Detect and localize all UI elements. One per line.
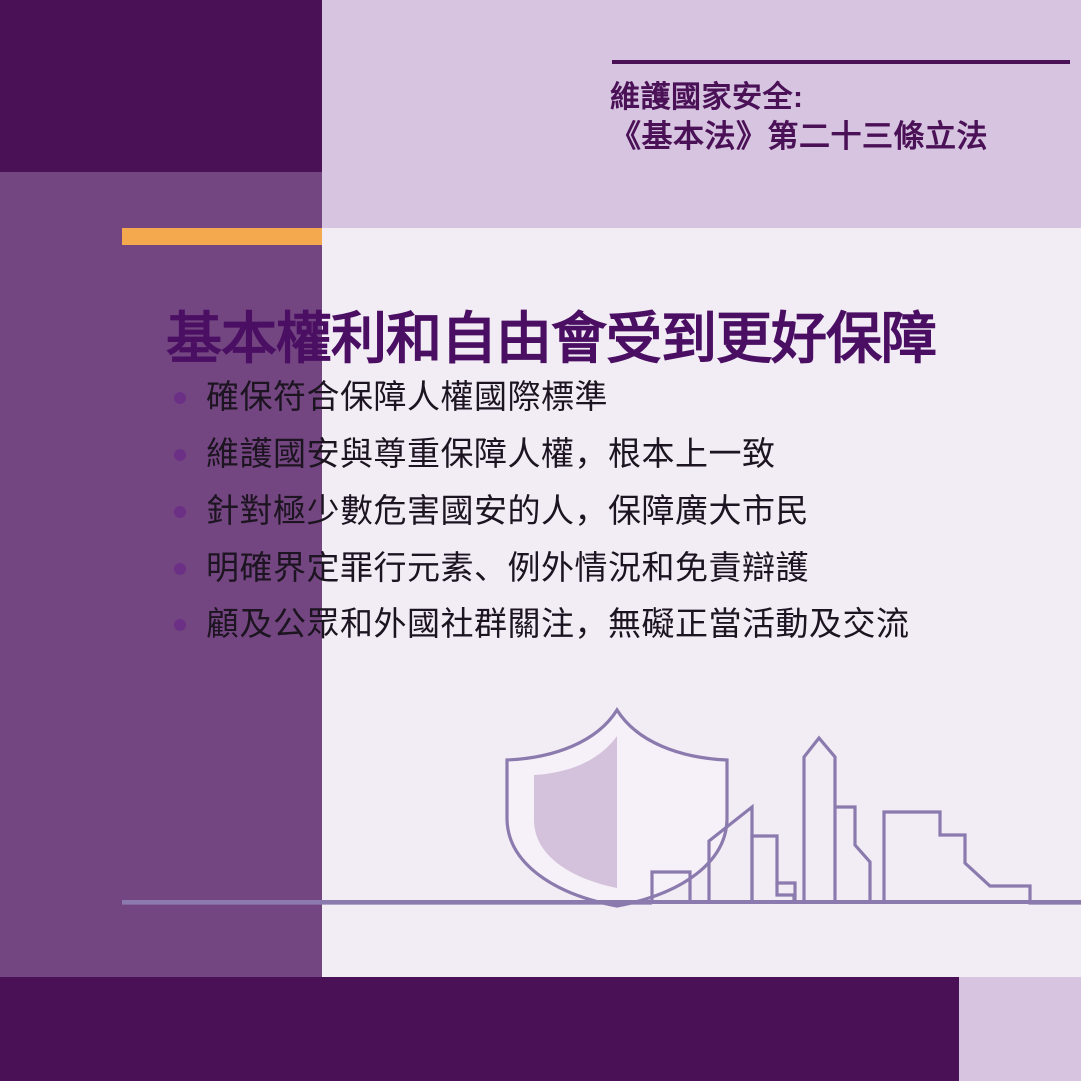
list-item: 針對極少數危害國安的人，保障廣大市民 bbox=[166, 488, 1066, 535]
header-divider-rule bbox=[612, 60, 1070, 64]
list-item-label: 明確界定罪行元素、例外情況和免責辯護 bbox=[206, 549, 809, 586]
list-item-label: 維護國安與尊重保障人權，根本上一致 bbox=[206, 435, 776, 472]
bullet-dot-icon bbox=[174, 449, 186, 461]
top-left-dark-block bbox=[0, 0, 322, 172]
list-item: 確保符合保障人權國際標準 bbox=[166, 374, 1066, 421]
left-purple-sidebar bbox=[0, 228, 122, 977]
bullet-dot-icon bbox=[174, 563, 186, 575]
bottom-dark-block bbox=[0, 977, 959, 1081]
header-title-line-1: 維護國家安全: bbox=[610, 78, 1080, 117]
list-item: 顧及公眾和外國社群關注，無礙正當活動及交流 bbox=[166, 601, 1066, 648]
header-title-line-2: 《基本法》第二十三條立法 bbox=[610, 117, 1080, 157]
key-points-list: 確保符合保障人權國際標準 維護國安與尊重保障人權，根本上一致 針對極少數危害國安… bbox=[166, 374, 1066, 658]
bullet-dot-icon bbox=[174, 392, 186, 404]
bullet-dot-icon bbox=[174, 506, 186, 518]
header-title-block: 維護國家安全: 《基本法》第二十三條立法 bbox=[610, 78, 1080, 157]
list-item: 明確界定罪行元素、例外情況和免責辯護 bbox=[166, 545, 1066, 592]
poster-canvas: 維護國家安全: 《基本法》第二十三條立法 基本權利和自由會受到更好保障 確保符合… bbox=[0, 0, 1081, 1081]
list-item: 維護國安與尊重保障人權，根本上一致 bbox=[166, 431, 1066, 478]
list-item-label: 顧及公眾和外國社群關注，無礙正當活動及交流 bbox=[206, 605, 910, 642]
bottom-right-lavender-block bbox=[959, 977, 1081, 1081]
page-title: 基本權利和自由會受到更好保障 bbox=[166, 294, 1046, 375]
baseline-rule bbox=[122, 900, 1081, 904]
bullet-dot-icon bbox=[174, 619, 186, 631]
orange-accent-bar bbox=[122, 228, 322, 245]
list-item-label: 針對極少數危害國安的人，保障廣大市民 bbox=[206, 492, 809, 529]
list-item-label: 確保符合保障人權國際標準 bbox=[206, 378, 608, 415]
shield-skyline-graphic bbox=[122, 690, 1081, 910]
